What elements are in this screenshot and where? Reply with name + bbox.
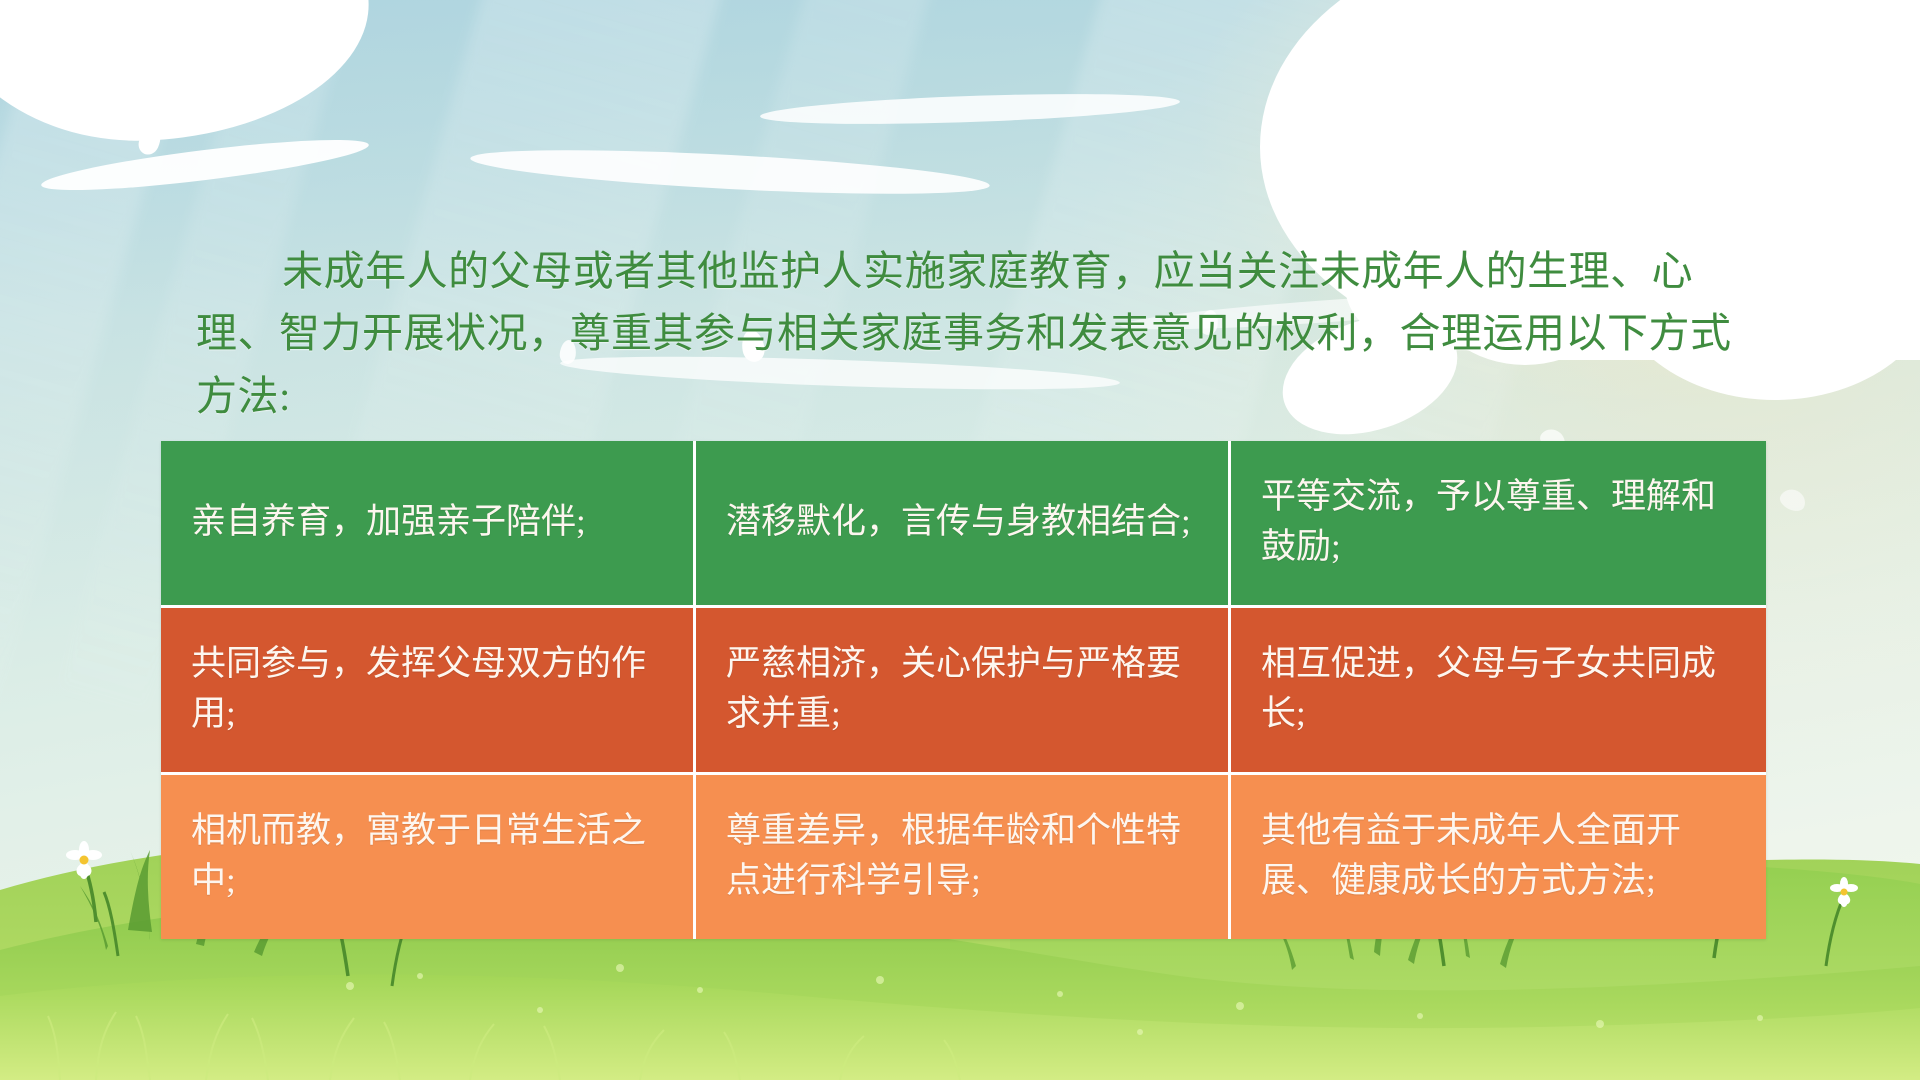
cloud-shape: [1395, 170, 1465, 230]
daisy-flower: [1826, 877, 1858, 966]
cloud-shape: [0, 0, 375, 151]
table-row: 共同参与，发挥父母双方的作用; 严慈相济，关心保护与严格要求并重; 相互促进，父…: [161, 608, 1766, 775]
table-cell: 尊重差异，根据年龄和个性特点进行科学引导;: [696, 775, 1231, 939]
petal-icon: [1777, 485, 1809, 514]
petal-icon: [1808, 297, 1834, 320]
table-cell: 亲自养育，加强亲子陪伴;: [161, 441, 696, 608]
cloud-shape: [469, 141, 990, 202]
table-cell: 潜移默化，言传与身教相结合;: [696, 441, 1231, 608]
petal-icon: [135, 124, 165, 158]
table-cell: 共同参与，发挥父母双方的作用;: [161, 608, 696, 775]
presentation-slide: 未成年人的父母或者其他监护人实施家庭教育，应当关注未成年人的生理、心理、智力开展…: [0, 0, 1920, 1080]
table-cell: 其他有益于未成年人全面开展、健康成长的方式方法;: [1231, 775, 1766, 939]
table-cell: 相互促进，父母与子女共同成长;: [1231, 608, 1766, 775]
daisy-flower: [104, 892, 118, 956]
cloud-shape: [760, 89, 1181, 130]
table-cell: 平等交流，予以尊重、理解和鼓励;: [1231, 441, 1766, 608]
petal-icon: [116, 42, 141, 72]
table-cell: 相机而教，寓教于日常生活之中;: [161, 775, 696, 939]
methods-table: 亲自养育，加强亲子陪伴; 潜移默化，言传与身教相结合; 平等交流，予以尊重、理解…: [161, 441, 1766, 939]
petal-icon: [68, 94, 97, 130]
table-row: 亲自养育，加强亲子陪伴; 潜移默化，言传与身教相结合; 平等交流，予以尊重、理解…: [161, 441, 1766, 608]
table-row: 相机而教，寓教于日常生活之中; 尊重差异，根据年龄和个性特点进行科学引导; 其他…: [161, 775, 1766, 939]
cloud-shape: [39, 130, 370, 200]
page-title: 未成年人的父母或者其他监护人实施家庭教育，应当关注未成年人的生理、心理、智力开展…: [196, 240, 1756, 427]
table-cell: 严慈相济，关心保护与严格要求并重;: [696, 608, 1231, 775]
daisy-flower: [66, 841, 102, 922]
